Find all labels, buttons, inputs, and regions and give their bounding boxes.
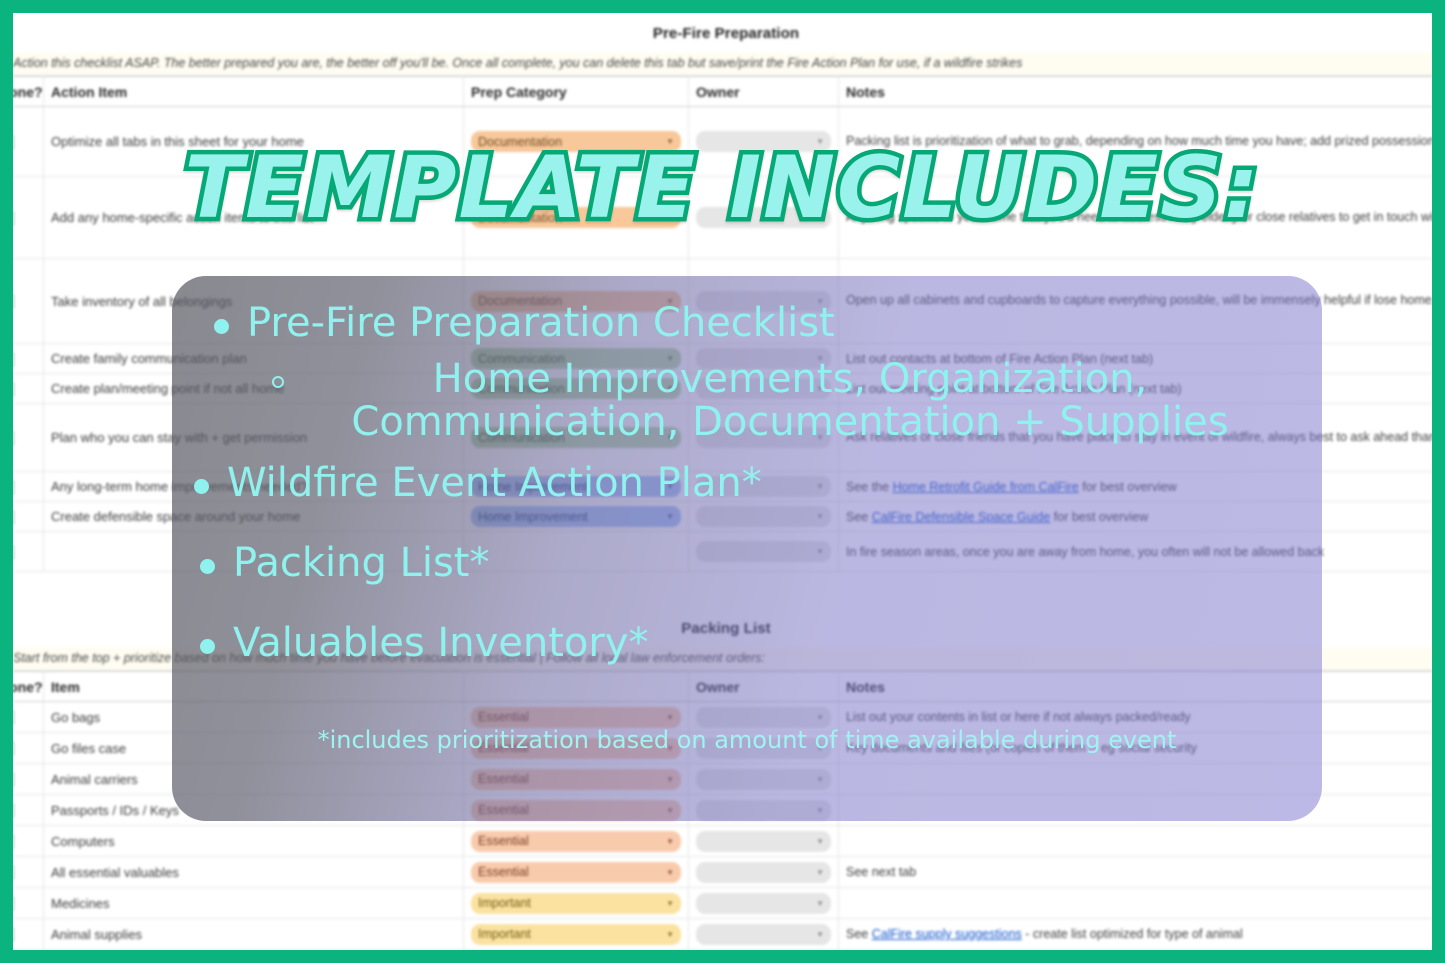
feature-bullet-2: Home Improvements, Organization, Communi… (272, 358, 1280, 444)
notes-hyperlink[interactable]: CalFire supply suggestions (872, 927, 1022, 941)
done-checkbox-cell[interactable] (13, 502, 44, 532)
done-checkbox-cell[interactable] (13, 532, 44, 572)
chevron-down-icon[interactable]: ▼ (666, 868, 674, 877)
checkbox-icon[interactable] (13, 927, 14, 942)
category-cell: Important▼ (464, 919, 689, 950)
table-row: ComputersEssential▼▼ (13, 826, 1432, 857)
table-row: MedicinesImportant▼▼ (13, 888, 1432, 919)
dropdown-chip[interactable]: Essential▼ (471, 862, 681, 883)
table-header-row: Done? Action Item Prep Category Owner No… (13, 77, 1432, 107)
done-checkbox-cell[interactable] (13, 733, 44, 764)
checkbox-icon[interactable] (13, 294, 14, 309)
chevron-down-icon[interactable]: ▼ (666, 899, 674, 908)
chevron-down-icon[interactable]: ▼ (816, 930, 824, 939)
feature-bullet-4: Packing List* (200, 542, 489, 585)
item-cell: Computers (44, 826, 464, 857)
checkbox-icon[interactable] (13, 834, 14, 849)
frame-edge-bottom (0, 950, 1445, 963)
notes-cell (839, 826, 1433, 857)
category-cell: Important▼ (464, 888, 689, 919)
overlay-footnote: *includes prioritization based on amount… (172, 726, 1322, 754)
bullet-dot-icon (200, 639, 215, 654)
category-cell: Essential▼ (464, 857, 689, 888)
checkbox-icon[interactable] (13, 480, 14, 495)
col-header-done: Done? (13, 672, 44, 702)
dropdown-chip[interactable]: Important▼ (471, 924, 681, 945)
done-checkbox-cell[interactable] (13, 857, 44, 888)
item-cell: All essential valuables (44, 857, 464, 888)
done-checkbox-cell[interactable] (13, 764, 44, 795)
checkbox-icon[interactable] (13, 896, 14, 911)
chevron-down-icon[interactable]: ▼ (816, 899, 824, 908)
feature-bullet-3: Wildfire Event Action Plan* (194, 462, 762, 505)
bullet-dot-icon (214, 319, 229, 334)
overlay-feature-card: Pre-Fire Preparation Checklist Home Impr… (172, 276, 1322, 821)
section1-title: Pre-Fire Preparation (13, 13, 1432, 52)
feature-bullet-4-label: Packing List* (233, 542, 489, 585)
table-row: Animal suppliesImportant▼▼See CalFire su… (13, 919, 1432, 950)
chevron-down-icon[interactable]: ▼ (666, 930, 674, 939)
section1-instruction: Action this checklist ASAP. The better p… (13, 52, 1432, 76)
feature-bullet-3-label: Wildfire Event Action Plan* (227, 462, 762, 505)
col-header-action: Action Item (44, 77, 464, 107)
done-checkbox-cell[interactable] (13, 472, 44, 502)
checkbox-icon[interactable] (13, 545, 14, 560)
item-cell: Animal supplies (44, 919, 464, 950)
done-checkbox-cell[interactable] (13, 344, 44, 374)
table-row: All essential valuablesEssential▼▼See ne… (13, 857, 1432, 888)
checkbox-icon[interactable] (13, 865, 14, 880)
chevron-down-icon[interactable]: ▼ (816, 868, 824, 877)
poster-frame: Pre-Fire Preparation Action this checkli… (0, 0, 1445, 963)
checkbox-icon[interactable] (13, 510, 14, 525)
owner-cell: ▼ (689, 888, 839, 919)
owner-cell: ▼ (689, 826, 839, 857)
dropdown-chip-label: Important (478, 927, 531, 941)
done-checkbox-cell[interactable] (13, 259, 44, 344)
dropdown-chip-label: Essential (478, 834, 529, 848)
frame-edge-top (0, 0, 1445, 13)
checkbox-icon[interactable] (13, 352, 14, 367)
headline-template-includes: TEMPLATE INCLUDES: (0, 145, 1445, 231)
bullet-dot-icon (200, 559, 215, 574)
checkbox-icon[interactable] (13, 431, 14, 446)
notes-cell (839, 888, 1433, 919)
owner-dropdown[interactable]: ▼ (696, 862, 831, 883)
dropdown-chip[interactable]: Important▼ (471, 893, 681, 914)
dropdown-chip[interactable]: Essential▼ (471, 831, 681, 852)
notes-cell: See CalFire supply suggestions - create … (839, 919, 1433, 950)
owner-dropdown[interactable]: ▼ (696, 924, 831, 945)
done-checkbox-cell[interactable] (13, 919, 44, 950)
owner-dropdown[interactable]: ▼ (696, 893, 831, 914)
category-cell: Essential▼ (464, 826, 689, 857)
col-header-notes: Notes (839, 77, 1433, 107)
dropdown-chip-label: Essential (478, 865, 529, 879)
feature-bullet-1: Pre-Fire Preparation Checklist (214, 302, 835, 345)
dropdown-chip-label: Important (478, 896, 531, 910)
done-checkbox-cell[interactable] (13, 374, 44, 404)
col-header-done: Done? (13, 77, 44, 107)
bullet-circle-outline-icon (272, 376, 284, 388)
feature-bullet-5: Valuables Inventory* (200, 622, 648, 665)
done-checkbox-cell[interactable] (13, 795, 44, 826)
checkbox-icon[interactable] (13, 741, 14, 756)
owner-cell: ▼ (689, 919, 839, 950)
col-header-owner: Owner (689, 77, 839, 107)
feature-bullet-2-label: Home Improvements, Organization, Communi… (300, 358, 1280, 444)
done-checkbox-cell[interactable] (13, 404, 44, 472)
feature-bullet-1-label: Pre-Fire Preparation Checklist (247, 302, 835, 345)
chevron-down-icon[interactable]: ▼ (666, 837, 674, 846)
bullet-dot-icon (194, 479, 209, 494)
checkbox-icon[interactable] (13, 772, 14, 787)
done-checkbox-cell[interactable] (13, 702, 44, 733)
col-header-category: Prep Category (464, 77, 689, 107)
done-checkbox-cell[interactable] (13, 888, 44, 919)
done-checkbox-cell[interactable] (13, 826, 44, 857)
notes-cell: See next tab (839, 857, 1433, 888)
feature-bullet-5-label: Valuables Inventory* (233, 622, 648, 665)
checkbox-icon[interactable] (13, 803, 14, 818)
owner-cell: ▼ (689, 857, 839, 888)
checkbox-icon[interactable] (13, 710, 14, 725)
item-cell: Medicines (44, 888, 464, 919)
checkbox-icon[interactable] (13, 382, 14, 397)
chevron-down-icon[interactable]: ▼ (816, 837, 824, 846)
owner-dropdown[interactable]: ▼ (696, 831, 831, 852)
